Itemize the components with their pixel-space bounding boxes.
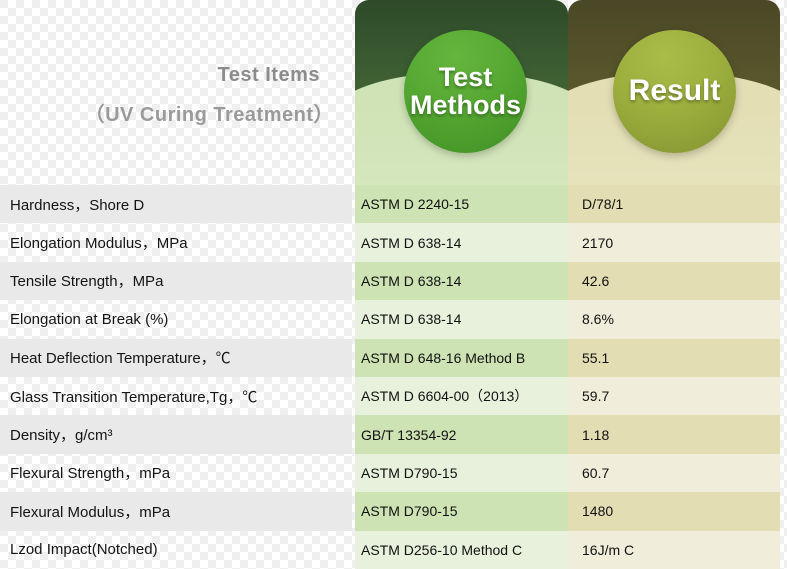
- table-row: Lzod Impact(Notched)ASTM D256-10 Method …: [0, 531, 787, 569]
- table-row: Hardness，Shore DASTM D 2240-15D/78/1: [0, 185, 787, 223]
- cell-test-method: ASTM D 2240-15: [355, 185, 568, 223]
- table-row: Heat Deflection Temperature，℃ASTM D 648-…: [0, 339, 787, 377]
- cell-result: 8.6%: [568, 300, 780, 338]
- cell-test-method: ASTM D790-15: [355, 454, 568, 492]
- cell-test-item: Density，g/cm³: [0, 415, 352, 453]
- cell-test-item: Flexural Strength，mPa: [0, 454, 352, 492]
- cell-result: 1480: [568, 492, 780, 530]
- cell-test-item: Tensile Strength，MPa: [0, 262, 352, 300]
- table-row: Elongation at Break (%)ASTM D 638-148.6%: [0, 300, 787, 338]
- page-subtitle: （UV Curing Treatment）: [85, 98, 334, 127]
- cell-result: 59.7: [568, 377, 780, 415]
- cell-test-method: ASTM D 638-14: [355, 223, 568, 261]
- cell-test-method: ASTM D 638-14: [355, 262, 568, 300]
- cell-result: 16J/m C: [568, 531, 780, 569]
- header-column-result: Result: [568, 0, 780, 185]
- test-items-title-block: Test Items （UV Curing Treatment）: [0, 0, 352, 185]
- table-row: Flexural Strength，mPaASTM D790-1560.7: [0, 454, 787, 492]
- cell-test-item: Elongation at Break (%): [0, 300, 352, 338]
- test-report-table: Test Items （UV Curing Treatment） Test Me…: [0, 0, 787, 569]
- cell-test-item: Hardness，Shore D: [0, 185, 352, 223]
- cell-result: 60.7: [568, 454, 780, 492]
- cell-test-item: Glass Transition Temperature,Tg，℃: [0, 377, 352, 415]
- methods-badge: Test Methods: [404, 30, 527, 153]
- table-header: Test Items （UV Curing Treatment） Test Me…: [0, 0, 787, 185]
- cell-test-method: ASTM D790-15: [355, 492, 568, 530]
- cell-test-method: ASTM D 638-14: [355, 300, 568, 338]
- cell-test-method: ASTM D256-10 Method C: [355, 531, 568, 569]
- cell-result: 55.1: [568, 339, 780, 377]
- cell-result: 2170: [568, 223, 780, 261]
- page-title: Test Items: [218, 64, 320, 87]
- cell-test-method: ASTM D 648-16 Method B: [355, 339, 568, 377]
- cell-test-item: Elongation Modulus，MPa: [0, 223, 352, 261]
- table-row: Density，g/cm³GB/T 13354-921.18: [0, 415, 787, 453]
- cell-result: 1.18: [568, 415, 780, 453]
- cell-test-item: Heat Deflection Temperature，℃: [0, 339, 352, 377]
- cell-test-method: GB/T 13354-92: [355, 415, 568, 453]
- table-row: Tensile Strength，MPaASTM D 638-1442.6: [0, 262, 787, 300]
- table-row: Glass Transition Temperature,Tg，℃ASTM D …: [0, 377, 787, 415]
- header-column-test-methods: Test Methods: [355, 0, 568, 185]
- cell-result: 42.6: [568, 262, 780, 300]
- result-badge: Result: [613, 30, 736, 153]
- cell-test-item: Flexural Modulus，mPa: [0, 492, 352, 530]
- table-row: Flexural Modulus，mPaASTM D790-151480: [0, 492, 787, 530]
- table-row: Elongation Modulus，MPaASTM D 638-142170: [0, 223, 787, 261]
- cell-test-method: ASTM D 6604-00（2013）: [355, 377, 568, 415]
- cell-result: D/78/1: [568, 185, 780, 223]
- table-body: Hardness，Shore DASTM D 2240-15D/78/1Elon…: [0, 185, 787, 569]
- cell-test-item: Lzod Impact(Notched): [0, 531, 352, 569]
